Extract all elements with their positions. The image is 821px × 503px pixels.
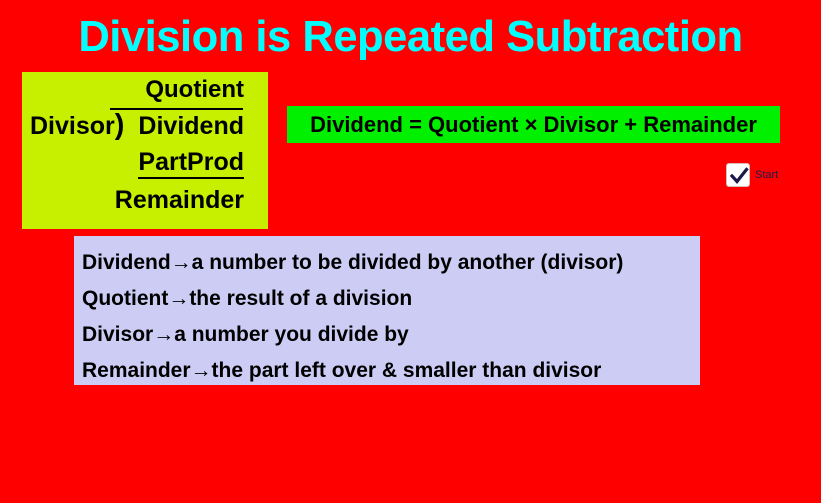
- definition-line: Remainder→the part left over & smaller t…: [82, 353, 700, 389]
- page-title: Division is Repeated Subtraction: [4, 8, 817, 66]
- division-divisor-label: Divisor): [30, 112, 124, 140]
- division-divisor-text: Divisor: [30, 112, 115, 140]
- formula-text: Dividend = Quotient × Divisor + Remainde…: [310, 112, 757, 138]
- division-dividend-label: Dividend: [138, 112, 244, 140]
- start-label: Start: [755, 169, 778, 181]
- division-vinculum-line: [110, 108, 243, 110]
- check-icon: [729, 166, 749, 186]
- definition-line: Quotient→the result of a division: [82, 281, 700, 317]
- division-bracket: ): [115, 109, 125, 141]
- long-division-diagram: Quotient Divisor) Dividend PartProd Rema…: [22, 72, 268, 229]
- start-control[interactable]: Start: [726, 163, 778, 187]
- formula-banner: Dividend = Quotient × Divisor + Remainde…: [287, 106, 780, 143]
- definitions-panel: Dividend→a number to be divided by anoth…: [74, 236, 700, 385]
- division-partial-product-label: PartProd: [138, 148, 244, 179]
- start-checkbox[interactable]: [726, 163, 750, 187]
- division-remainder-label: Remainder: [115, 186, 244, 214]
- definition-line: Dividend→a number to be divided by anoth…: [82, 245, 700, 281]
- definition-line: Divisor→a number you divide by: [82, 317, 700, 353]
- division-quotient-label: Quotient: [145, 76, 244, 104]
